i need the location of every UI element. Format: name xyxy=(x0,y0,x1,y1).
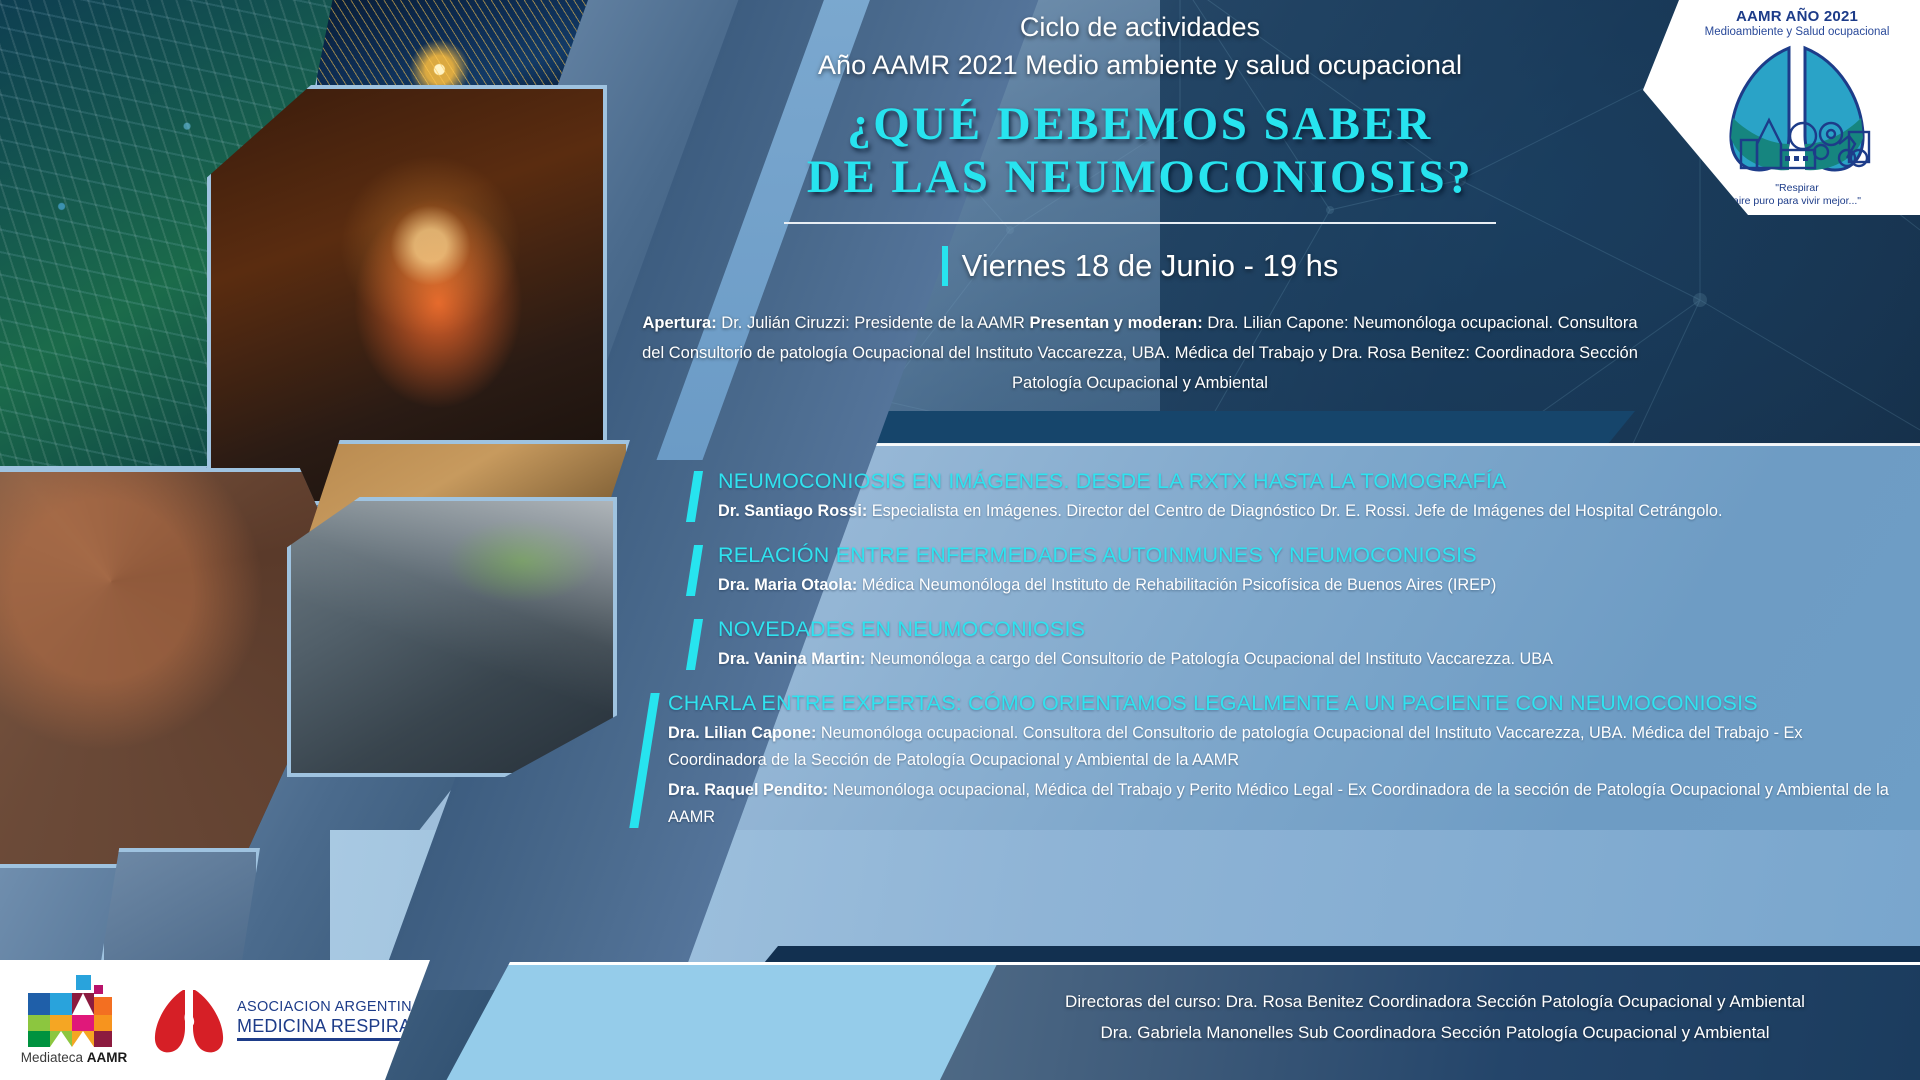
lecture-list: NEUMOCONIOSIS EN IMÁGENES. DESDE LA RXTX… xyxy=(690,468,1905,848)
speaker-bio-3: Neumonóloga a cargo del Consultorio de P… xyxy=(865,650,1553,668)
title-line-1: ¿QUÉ DEBEMOS SABER xyxy=(610,98,1670,151)
mediateca-label: Mediateca AAMR xyxy=(21,1050,128,1065)
apertura-text: Dr. Julián Ciruzzi: Presidente de la AAM… xyxy=(717,314,1030,332)
lecture-title-2: RELACIÓN ENTRE ENFERMEDADES AUTOINMUNES … xyxy=(718,542,1905,569)
poster-header: Ciclo de actividades Año AAMR 2021 Medio… xyxy=(610,0,1670,398)
lecture-item-3: NOVEDADES EN NEUMOCONIOSIS Dra. Vanina M… xyxy=(690,616,1905,673)
lecture-item-4: CHARLA ENTRE EXPERTAS: CÓMO ORIENTAMOS L… xyxy=(640,690,1905,831)
lecture-item-2: RELACIÓN ENTRE ENFERMEDADES AUTOINMUNES … xyxy=(690,542,1905,599)
event-date: Viernes 18 de Junio - 19 hs xyxy=(962,248,1339,284)
page-title: ¿QUÉ DEBEMOS SABER DE LAS NEUMOCONIOSIS? xyxy=(610,98,1670,204)
speaker-bio-2: Médica Neumonóloga del Instituto de Reha… xyxy=(857,576,1496,594)
poster-root: Ciclo de actividades Año AAMR 2021 Medio… xyxy=(0,0,1920,1080)
opening-credits: Apertura: Dr. Julián Ciruzzi: Presidente… xyxy=(640,308,1640,398)
event-date-row: Viernes 18 de Junio - 19 hs xyxy=(610,246,1670,286)
mediateca-mark-icon xyxy=(20,975,128,1047)
lecture-title-1: NEUMOCONIOSIS EN IMÁGENES. DESDE LA RXTX… xyxy=(718,468,1905,495)
speaker-bio-1: Especialista en Imágenes. Director del C… xyxy=(867,502,1722,520)
lungs-icon xyxy=(1673,40,1920,180)
directors-line-1: Directoras del curso: Dra. Rosa Benitez … xyxy=(965,986,1905,1017)
speaker-name-4b: Dra. Raquel Pendito: xyxy=(668,781,828,799)
aamr-logo-title: AAMR AÑO 2021 xyxy=(1673,8,1920,25)
kicker-text: Ciclo de actividades Año AAMR 2021 Medio… xyxy=(610,0,1670,84)
course-directors: Directoras del curso: Dra. Rosa Benitez … xyxy=(965,986,1905,1048)
mediateca-label-bold: AAMR xyxy=(87,1050,128,1065)
lecture-speaker-1: Dr. Santiago Rossi: Especialista en Imág… xyxy=(718,498,1905,525)
red-lungs-icon xyxy=(150,984,228,1056)
speaker-bio-4b: Neumonóloga ocupacional, Médica del Trab… xyxy=(668,781,1889,826)
lecture-speaker-2: Dra. Maria Otaola: Médica Neumonóloga de… xyxy=(718,572,1905,599)
directors-line-2: Dra. Gabriela Manonelles Sub Coordinador… xyxy=(965,1017,1905,1048)
mediateca-label-light: Mediateca xyxy=(21,1050,87,1065)
speaker-name-4a: Dra. Lilian Capone: xyxy=(668,724,816,742)
photo-sandblasting xyxy=(287,497,617,777)
lecture-speaker-4b: Dra. Raquel Pendito: Neumonóloga ocupaci… xyxy=(668,777,1905,831)
speaker-bio-4a: Neumonóloga ocupacional. Consultora del … xyxy=(668,724,1803,769)
title-line-2: DE LAS NEUMOCONIOSIS? xyxy=(610,151,1670,204)
speaker-name-3: Dra. Vanina Martin: xyxy=(718,650,865,668)
lecture-item-1: NEUMOCONIOSIS EN IMÁGENES. DESDE LA RXTX… xyxy=(690,468,1905,525)
speaker-name-1: Dr. Santiago Rossi: xyxy=(718,502,867,520)
footer-hexagon-accent xyxy=(440,962,1000,1080)
mediateca-logo: Mediateca AAMR xyxy=(20,975,128,1065)
lecture-title-4: CHARLA ENTRE EXPERTAS: CÓMO ORIENTAMOS L… xyxy=(668,690,1905,717)
lecture-speaker-3: Dra. Vanina Martin: Neumonóloga a cargo … xyxy=(718,646,1905,673)
moderan-label: Presentan y moderan: xyxy=(1029,314,1202,332)
title-underline xyxy=(784,222,1496,224)
kicker-line-2: Año AAMR 2021 Medio ambiente y salud ocu… xyxy=(610,46,1670,84)
photo-welding xyxy=(313,0,593,96)
lecture-title-3: NOVEDADES EN NEUMOCONIOSIS xyxy=(718,616,1905,643)
aamr-logo-subtitle: Medioambiente y Salud ocupacional xyxy=(1673,26,1920,38)
speaker-name-2: Dra. Maria Otaola: xyxy=(718,576,857,594)
photo-accent-hex xyxy=(100,848,260,968)
photo-collage xyxy=(0,0,700,1000)
date-accent-bar xyxy=(942,246,948,286)
apertura-label: Apertura: xyxy=(642,314,716,332)
kicker-line-1: Ciclo de actividades xyxy=(1020,12,1260,42)
lecture-speaker-4a: Dra. Lilian Capone: Neumonóloga ocupacio… xyxy=(668,720,1905,774)
